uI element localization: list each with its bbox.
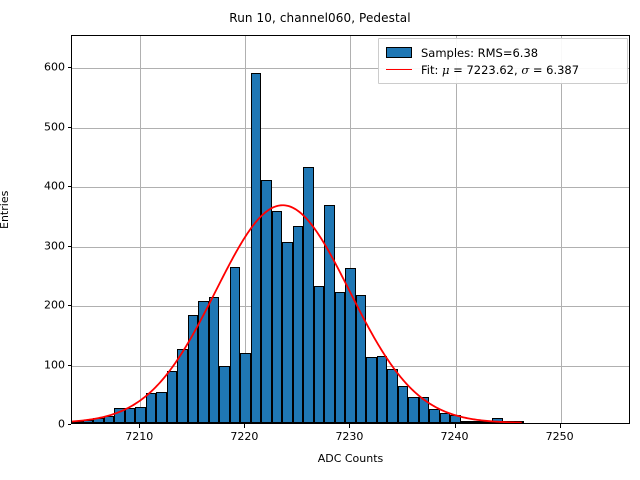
y-tick-label: 0	[25, 418, 65, 431]
x-tick-mark	[349, 424, 350, 428]
x-tick-mark	[455, 424, 456, 428]
legend-swatch-samples-icon	[386, 47, 412, 58]
plot-axes-area	[71, 35, 630, 424]
x-tick-label: 7240	[441, 430, 469, 443]
y-tick-mark	[68, 424, 72, 425]
x-tick-label: 7220	[230, 430, 258, 443]
legend-label-fit: Fit: μ = 7223.62, σ = 6.387	[421, 63, 579, 77]
mu-symbol: μ	[442, 63, 449, 77]
y-axis-label: Entries	[0, 191, 11, 229]
y-tick-label: 200	[25, 299, 65, 312]
y-tick-mark	[68, 305, 72, 306]
legend-item-fit: Fit: μ = 7223.62, σ = 6.387	[386, 61, 620, 78]
x-tick-mark	[560, 424, 561, 428]
x-tick-label: 7210	[125, 430, 153, 443]
legend-item-samples: Samples: RMS=6.38	[386, 44, 620, 61]
y-tick-mark	[68, 246, 72, 247]
chart-title: Run 10, channel060, Pedestal	[0, 11, 640, 25]
sigma-symbol: σ	[521, 63, 529, 77]
y-tick-mark	[68, 67, 72, 68]
legend-swatch-fit-icon	[386, 69, 412, 70]
y-tick-label: 400	[25, 180, 65, 193]
figure-canvas: Run 10, channel060, Pedestal 72107220723…	[0, 0, 640, 480]
y-tick-mark	[68, 186, 72, 187]
gaussian-fit-curve	[72, 36, 629, 423]
x-axis-label: ADC Counts	[71, 452, 630, 465]
x-tick-mark	[244, 424, 245, 428]
x-tick-label: 7250	[546, 430, 574, 443]
y-tick-label: 100	[25, 358, 65, 371]
y-tick-mark	[68, 365, 72, 366]
x-tick-label: 7230	[335, 430, 363, 443]
legend-label-samples: Samples: RMS=6.38	[421, 46, 538, 60]
y-tick-label: 600	[25, 61, 65, 74]
x-tick-mark	[139, 424, 140, 428]
y-tick-label: 500	[25, 120, 65, 133]
chart-legend: Samples: RMS=6.38 Fit: μ = 7223.62, σ = …	[378, 38, 628, 84]
y-tick-mark	[68, 127, 72, 128]
y-tick-label: 300	[25, 239, 65, 252]
